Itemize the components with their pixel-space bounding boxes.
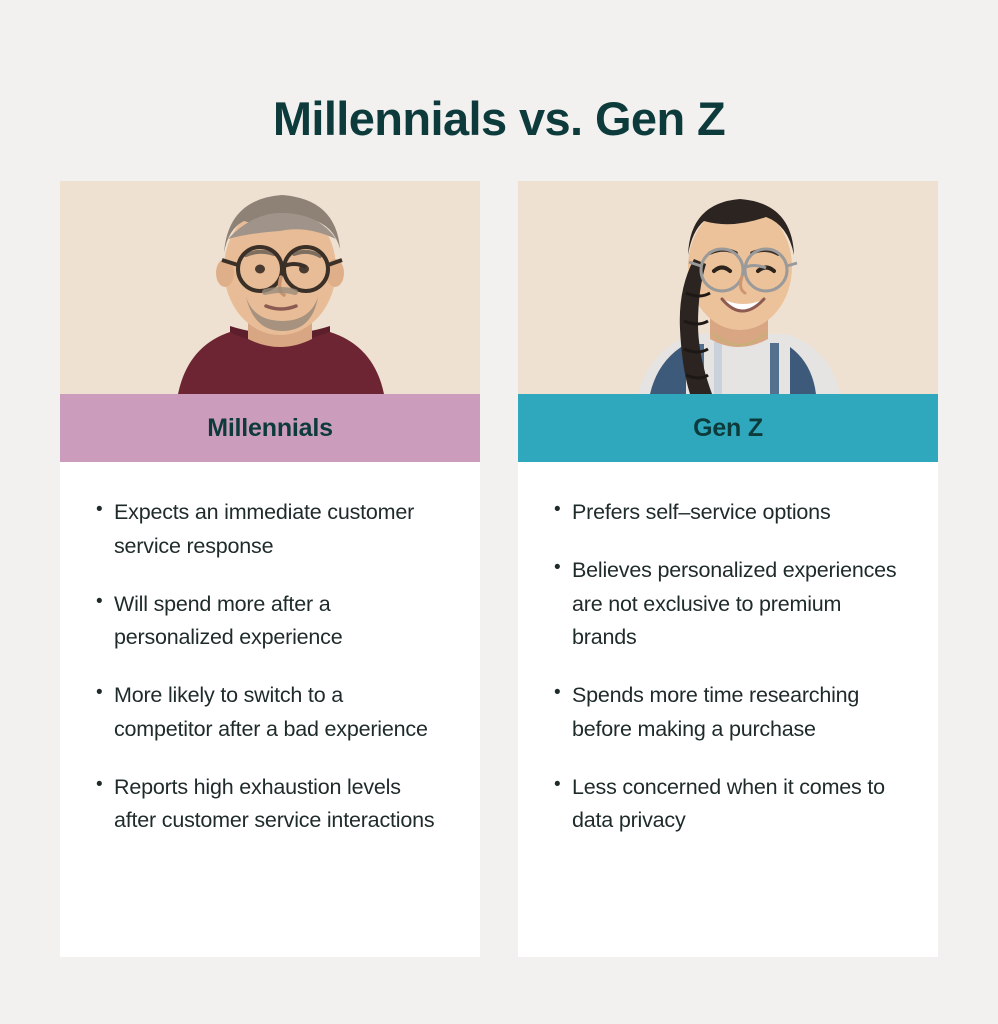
list-item: Prefers self–service options [554, 496, 904, 530]
list-item: Believes personalized experiences are no… [554, 554, 904, 655]
card-body-millennials: Expects an immediate customer service re… [60, 462, 480, 957]
card-millennials: Millennials Expects an immediate custome… [60, 181, 480, 957]
bullet-list-millennials: Expects an immediate customer service re… [96, 496, 446, 838]
card-header-label: Millennials [207, 414, 333, 443]
card-genz: Gen Z Prefers self–service options Belie… [518, 181, 938, 957]
card-header-label: Gen Z [693, 414, 763, 443]
comparison-cards: Millennials Expects an immediate custome… [60, 181, 938, 957]
photo-area-genz [518, 181, 938, 394]
portrait-genz [518, 181, 938, 394]
photo-area-millennials [60, 181, 480, 394]
list-item: Spends more time researching before maki… [554, 679, 904, 747]
list-item: Expects an immediate customer service re… [96, 496, 446, 564]
card-header-genz: Gen Z [518, 394, 938, 462]
infographic-page: Millennials vs. Gen Z [0, 0, 998, 1024]
portrait-millennials [60, 181, 480, 394]
list-item: More likely to switch to a competitor af… [96, 679, 446, 747]
list-item: Will spend more after a personalized exp… [96, 588, 446, 656]
list-item: Reports high exhaustion levels after cus… [96, 771, 446, 839]
page-title: Millennials vs. Gen Z [0, 93, 998, 145]
card-header-millennials: Millennials [60, 394, 480, 462]
card-body-genz: Prefers self–service options Believes pe… [518, 462, 938, 957]
list-item: Less concerned when it comes to data pri… [554, 771, 904, 839]
bullet-list-genz: Prefers self–service options Believes pe… [554, 496, 904, 838]
